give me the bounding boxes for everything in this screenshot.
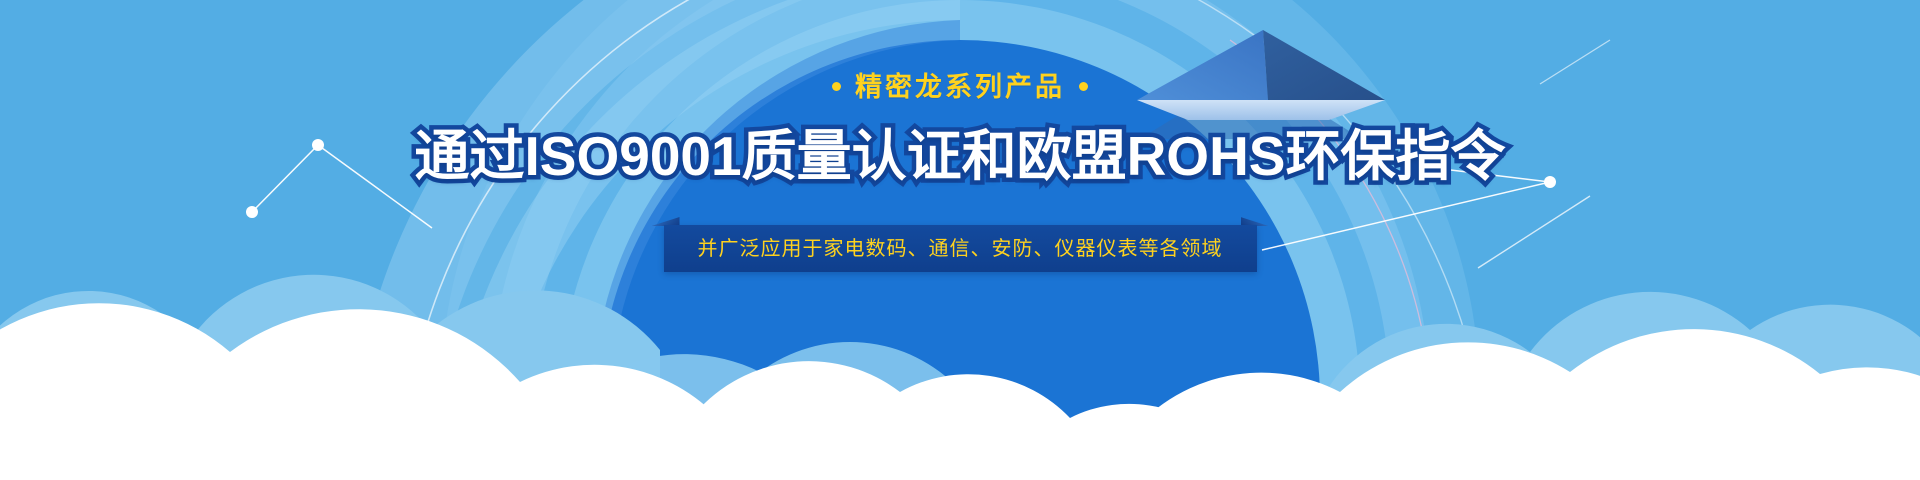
- banner-eyebrow: 精密龙系列产品: [818, 74, 1102, 101]
- bullet-dot-right: [1079, 82, 1088, 91]
- banner-tagline-ribbon: 并广泛应用于家电数码、通信、安防、仪器仪表等各领域: [664, 225, 1257, 272]
- promo-banner: 精密龙系列产品 通过ISO9001质量认证和欧盟ROHS环保指令 并广泛应用于家…: [0, 0, 1920, 480]
- eyebrow-label: 精密龙系列产品: [855, 72, 1065, 102]
- banner-tagline: 并广泛应用于家电数码、通信、安防、仪器仪表等各领域: [698, 239, 1223, 259]
- banner-headline: 通过ISO9001质量认证和欧盟ROHS环保指令: [414, 125, 1505, 187]
- bullet-dot-left: [832, 82, 841, 91]
- tagline-box: 并广泛应用于家电数码、通信、安防、仪器仪表等各领域: [664, 225, 1257, 272]
- banner-headline-wrap: 通过ISO9001质量认证和欧盟ROHS环保指令: [414, 129, 1505, 184]
